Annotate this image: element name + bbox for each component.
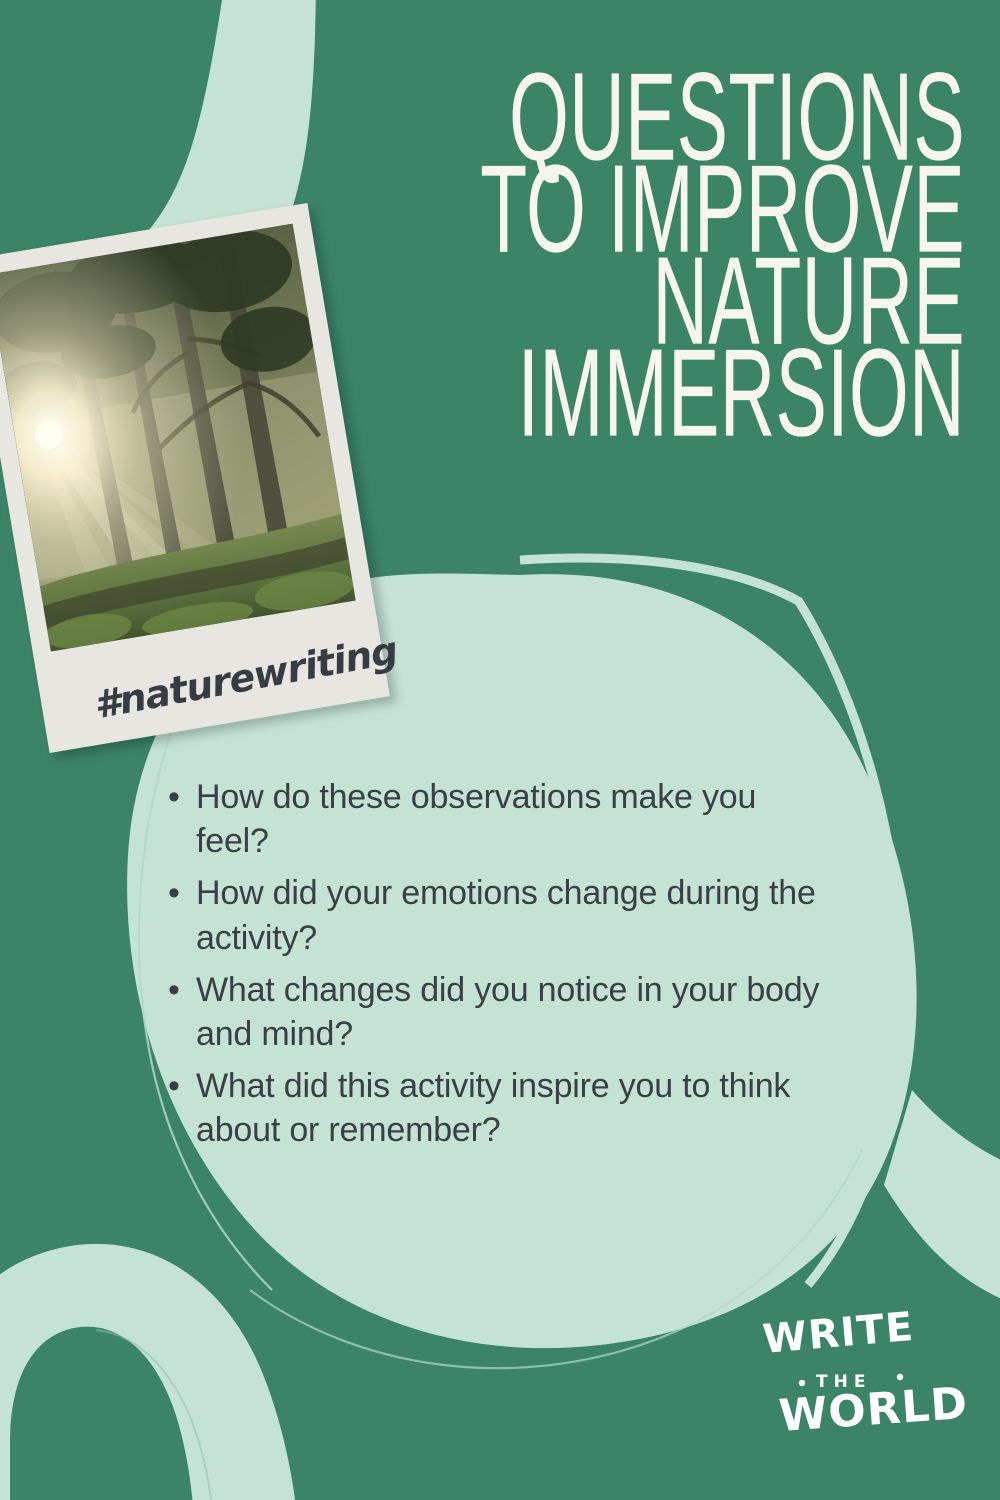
bullet-dot-icon: • xyxy=(168,968,196,1012)
forest-photo xyxy=(0,224,356,652)
list-item: • What changes did you notice in your bo… xyxy=(168,968,828,1056)
question-text-3: What changes did you notice in your body… xyxy=(196,968,828,1056)
list-item: • How did your emotions change during th… xyxy=(168,871,828,959)
poster-canvas: QUESTIONS TO IMPROVE NATURE IMMERSION xyxy=(0,0,1000,1500)
logo-line-world: WORLD xyxy=(777,1378,969,1442)
logo-line-write: WRITE xyxy=(761,1304,916,1363)
bullet-dot-icon: • xyxy=(168,871,196,915)
bullet-dot-icon: • xyxy=(168,775,196,819)
brand-logo: WRITE THE WORLD xyxy=(758,1307,958,1442)
bullet-dot-icon: • xyxy=(168,1064,196,1108)
question-text-2: How did your emotions change during the … xyxy=(196,871,828,959)
logo-dot-left xyxy=(799,1380,805,1386)
question-text-4: What did this activity inspire you to th… xyxy=(196,1064,828,1152)
logo-dot-right xyxy=(897,1374,903,1380)
page-title: QUESTIONS TO IMPROVE NATURE IMMERSION xyxy=(300,72,965,441)
question-text-1: How do these observations make you feel? xyxy=(196,775,828,863)
list-item: • How do these observations make you fee… xyxy=(168,775,828,863)
title-line-4: IMMERSION xyxy=(433,335,965,455)
questions-list: • How do these observations make you fee… xyxy=(168,775,828,1161)
list-item: • What did this activity inspire you to … xyxy=(168,1064,828,1152)
